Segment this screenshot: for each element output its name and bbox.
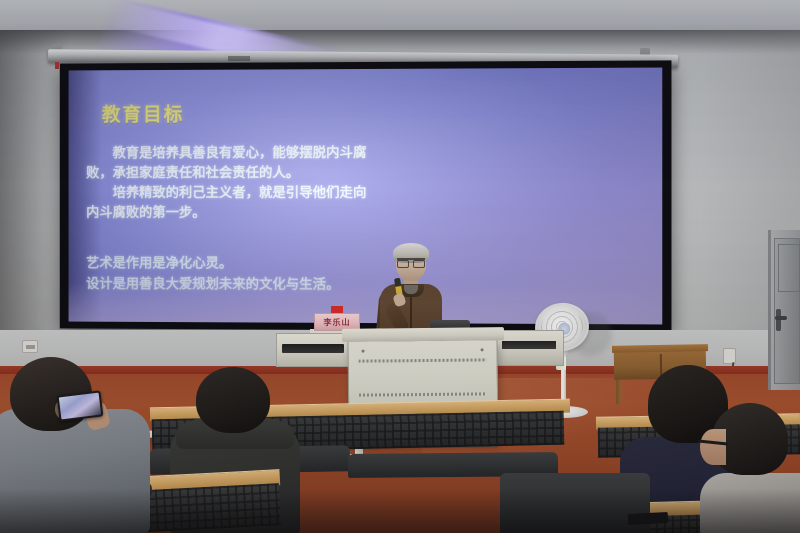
lectern-screw-left bbox=[362, 350, 365, 353]
door-panel-inset bbox=[778, 244, 800, 292]
slide-title: 教育目标 bbox=[102, 100, 185, 127]
audience-member-left-torso bbox=[0, 409, 150, 533]
phone-on-desk bbox=[628, 512, 669, 525]
audience-area bbox=[0, 355, 800, 533]
slide-line-2: 败，承担家庭责任和社会责任的人。 bbox=[86, 163, 625, 183]
wall-outlet-left bbox=[22, 340, 38, 353]
slide-line-4: 内斗腐败的第一步。 bbox=[86, 203, 625, 223]
audience-member-left2-head bbox=[196, 367, 270, 433]
smartphone-camera[interactable] bbox=[57, 390, 104, 421]
lectern-screw-right bbox=[481, 348, 484, 351]
door-lock[interactable] bbox=[776, 309, 781, 331]
roller-label bbox=[228, 56, 250, 61]
projected-slide: 教育目标 教育是培养具善良有爱心，能够摆脱内斗腐 败，承担家庭责任和社会责任的人… bbox=[69, 68, 663, 325]
glasses-icon bbox=[397, 258, 425, 264]
projection-screen: 教育目标 教育是培养具善良有爱心，能够摆脱内斗腐 败，承担家庭责任和社会责任的人… bbox=[60, 60, 672, 331]
speaker-name: 李乐山 bbox=[324, 317, 351, 328]
lecture-hall-photo: 教育目标 教育是培养具善良有爱心，能够摆脱内斗腐 败，承担家庭责任和社会责任的人… bbox=[0, 0, 800, 533]
slide-body-paragraph-1: 教育是培养具善良有爱心，能够摆脱内斗腐 败，承担家庭责任和社会责任的人。 培养精… bbox=[86, 142, 625, 223]
roller-red-marker bbox=[55, 62, 59, 69]
door-handle[interactable] bbox=[775, 316, 787, 320]
audience-member-farright-torso bbox=[700, 473, 800, 533]
stage-table-right-slot bbox=[502, 341, 556, 349]
stage-table-left-slot bbox=[282, 344, 344, 353]
nameplate-flag-icon bbox=[331, 306, 343, 313]
audience-member-farright-face bbox=[700, 429, 726, 465]
slide-line-3: 培养精致的利己主义者，就是引导他们走向 bbox=[86, 183, 625, 203]
slide-line-5: 艺术是作用是净化心灵。 bbox=[86, 253, 625, 275]
phone-screen bbox=[59, 393, 101, 420]
slide-line-1: 教育是培养具善良有爱心，能够摆脱内斗腐 bbox=[86, 142, 625, 163]
lectern-top-surface bbox=[342, 327, 504, 342]
